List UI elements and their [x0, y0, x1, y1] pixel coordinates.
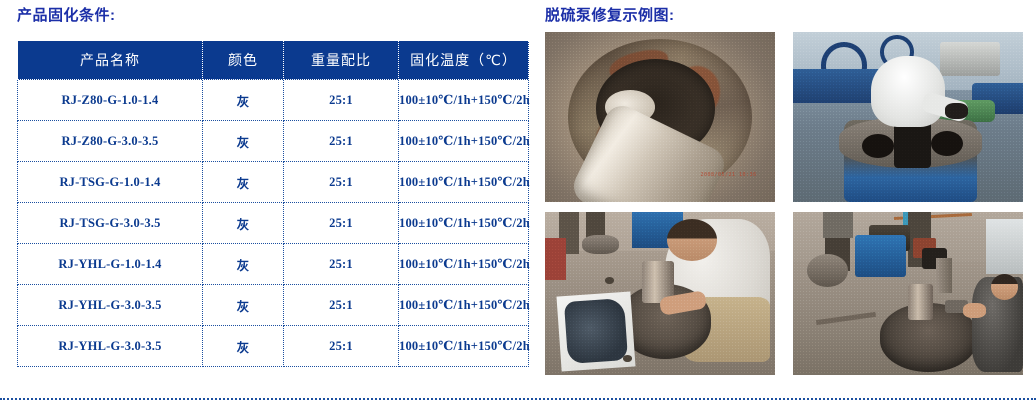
cell-color: 灰 [203, 285, 284, 326]
spec-table-wrapper: 产品名称 颜色 重量配比 固化温度（℃） RJ-Z80-G-1.0-1.4 灰 … [17, 40, 528, 367]
worker-torso [823, 212, 853, 238]
flange-opening [931, 131, 963, 157]
column-header-cure-temp: 固化温度（℃） [399, 41, 529, 80]
metal-post [936, 258, 952, 294]
table-row: RJ-Z80-G-3.0-3.5 灰 25:1 100±10℃/1h+150℃/… [18, 121, 529, 162]
photo-grid: 2008/05/21 10:36 [545, 32, 1023, 375]
cell-product-name: RJ-YHL-G-1.0-1.4 [18, 244, 203, 285]
table-row: RJ-YHL-G-1.0-1.4 灰 25:1 100±10℃/1h+150℃/… [18, 244, 529, 285]
cell-weight-ratio: 25:1 [284, 80, 399, 121]
cell-color: 灰 [203, 121, 284, 162]
column-header-weight-ratio: 重量配比 [284, 41, 399, 80]
blue-pump-casing [855, 235, 906, 277]
cell-cure-temp: 100±10℃/1h+150℃/2h [399, 80, 529, 121]
cell-product-name: RJ-TSG-G-3.0-3.5 [18, 203, 203, 244]
header-row: 产品名称 颜色 重量配比 固化温度（℃） [18, 41, 529, 80]
photo-timestamp: 2008/05/21 10:36 [700, 172, 756, 178]
cell-color: 灰 [203, 326, 284, 367]
photo-technician-coating-impeller [545, 212, 775, 375]
cell-weight-ratio: 25:1 [284, 121, 399, 162]
worker-coverall [871, 56, 945, 127]
page-title: 产品固化条件: [17, 4, 116, 25]
cell-weight-ratio: 25:1 [284, 244, 399, 285]
worker-glove [945, 103, 968, 118]
cell-cure-temp: 100±10℃/1h+150℃/2h [399, 244, 529, 285]
table-row: RJ-Z80-G-1.0-1.4 灰 25:1 100±10℃/1h+150℃/… [18, 80, 529, 121]
cell-product-name: RJ-TSG-G-1.0-1.4 [18, 162, 203, 203]
cell-weight-ratio: 25:1 [284, 326, 399, 367]
page-root: 产品固化条件: 产品名称 颜色 重量配比 固化温度（℃） RJ-Z80-G- [0, 0, 1036, 407]
pump-flange [807, 254, 848, 287]
cell-color: 灰 [203, 244, 284, 285]
table-row: RJ-TSG-G-3.0-3.5 灰 25:1 100±10℃/1h+150℃/… [18, 203, 529, 244]
impeller-shaft [908, 284, 933, 320]
technician-hand [963, 303, 986, 318]
coating-material [564, 298, 628, 364]
curing-conditions-table: 产品名称 颜色 重量配比 固化温度（℃） RJ-Z80-G-1.0-1.4 灰 … [17, 40, 529, 367]
cell-color: 灰 [203, 80, 284, 121]
curing-conditions-panel: 产品固化条件: 产品名称 颜色 重量配比 固化温度（℃） RJ-Z80-G- [0, 0, 536, 407]
cell-cure-temp: 100±10℃/1h+150℃/2h [399, 162, 529, 203]
table-body: RJ-Z80-G-1.0-1.4 灰 25:1 100±10℃/1h+150℃/… [18, 80, 529, 367]
column-header-color: 颜色 [203, 41, 284, 80]
photo-pump-casing-corrosion: 2008/05/21 10:36 [545, 32, 775, 202]
table-row: RJ-YHL-G-3.0-3.5 灰 25:1 100±10℃/1h+150℃/… [18, 326, 529, 367]
motor-unit [940, 42, 1000, 76]
cell-product-name: RJ-Z80-G-3.0-3.5 [18, 121, 203, 162]
cell-product-name: RJ-YHL-G-3.0-3.5 [18, 285, 203, 326]
cell-color: 灰 [203, 203, 284, 244]
floor-bolt [605, 277, 614, 284]
table-row: RJ-YHL-G-3.0-3.5 灰 25:1 100±10℃/1h+150℃/… [18, 285, 529, 326]
cell-color: 灰 [203, 162, 284, 203]
cell-cure-temp: 100±10℃/1h+150℃/2h [399, 326, 529, 367]
photo-workers-assembling-impeller [793, 212, 1023, 375]
flange-opening [862, 134, 894, 158]
bystander-shirt [545, 238, 566, 280]
photo-worker-on-pump [793, 32, 1023, 202]
cell-product-name: RJ-YHL-G-3.0-3.5 [18, 326, 203, 367]
cell-weight-ratio: 25:1 [284, 285, 399, 326]
cell-cure-temp: 100±10℃/1h+150℃/2h [399, 121, 529, 162]
bottom-divider [0, 398, 1036, 400]
cell-weight-ratio: 25:1 [284, 162, 399, 203]
photos-section-title: 脱硫泵修复示例图: [545, 4, 675, 25]
column-header-product-name: 产品名称 [18, 41, 203, 80]
table-row: RJ-TSG-G-1.0-1.4 灰 25:1 100±10℃/1h+150℃/… [18, 162, 529, 203]
pump-part [582, 235, 619, 255]
repair-photos-panel: 脱硫泵修复示例图: 2008/05/21 10:36 [536, 0, 1036, 407]
technician-head [667, 219, 718, 261]
cell-cure-temp: 100±10℃/1h+150℃/2h [399, 285, 529, 326]
cell-product-name: RJ-Z80-G-1.0-1.4 [18, 80, 203, 121]
table-header: 产品名称 颜色 重量配比 固化温度（℃） [18, 41, 529, 80]
cell-weight-ratio: 25:1 [284, 203, 399, 244]
white-panel [986, 219, 1023, 274]
cell-cure-temp: 100±10℃/1h+150℃/2h [399, 203, 529, 244]
